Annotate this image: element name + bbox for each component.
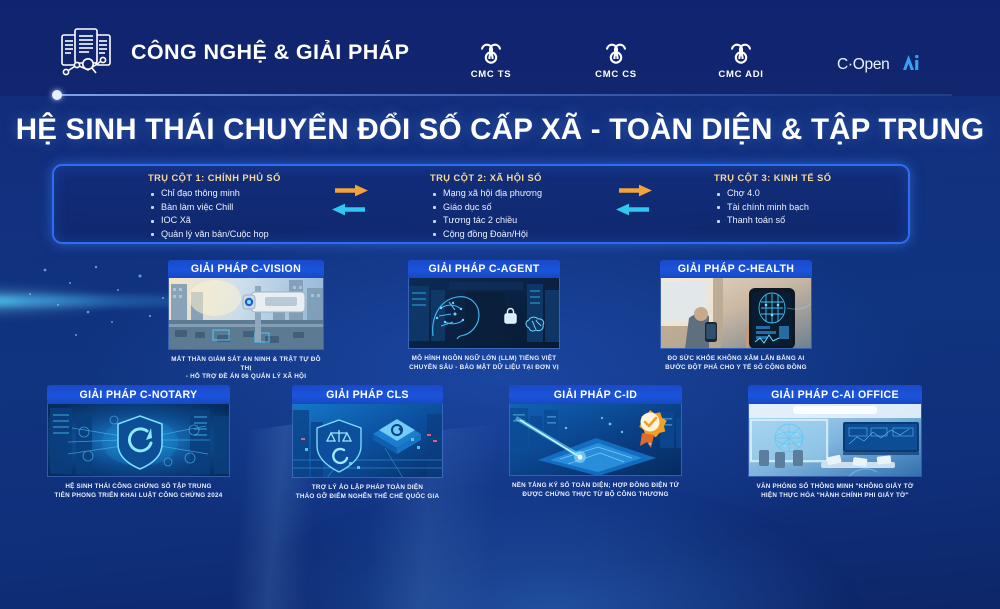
solution-card-c-health[interactable]: GIẢI PHÁP C-HEALTH	[660, 260, 812, 372]
pillar-item-list: Chỉ đạo thông minh Bàn làm việc Chill IO…	[148, 187, 326, 241]
partner-logos: CMC TS CMC CS CMC ADI	[452, 40, 929, 80]
card-caption-line-2: THÁO GỠ ĐIỂM NGHẼN THỂ CHẾ QUỐC GIA	[292, 493, 443, 502]
logo-label: CMC ADI	[702, 69, 780, 80]
solution-card-c-agent[interactable]: GIẢI PHÁP C-AGENT	[408, 260, 560, 372]
card-caption-line-1: ĐO SỨC KHỎE KHÔNG XÂM LẤN BẰNG AI	[660, 355, 812, 364]
c-open-ai-logo-icon: C·Open	[837, 53, 929, 80]
pillar-item: IOC Xã	[148, 214, 326, 228]
card-caption-line-2: - HỖ TRỢ ĐỀ ÁN 06 QUẢN LÝ XÃ HỘI	[168, 373, 324, 382]
smart-office-image	[749, 404, 922, 477]
card-title: GIẢI PHÁP C-AI OFFICE	[748, 385, 922, 404]
digital-shield-image	[48, 404, 230, 477]
solution-card-c-ai-office[interactable]: GIẢI PHÁP C-AI OFFICE	[748, 385, 922, 500]
card-caption: ĐO SỨC KHỎE KHÔNG XÂM LẤN BẰNG AI BƯỚC Đ…	[660, 355, 812, 372]
pillar-item: Cộng đồng Đoàn/Hội	[430, 228, 610, 242]
card-image-c-notary	[47, 404, 230, 477]
documents-analytics-icon	[58, 27, 114, 77]
pillar-item-list: Chợ 4.0 Tài chính minh bạch Thanh toán s…	[714, 187, 874, 228]
card-caption-line-2: CHUYÊN SÂU - BẢO MẬT DỮ LIỆU TẠI ĐƠN VỊ	[408, 364, 560, 373]
card-caption: MẮT THẦN GIÁM SÁT AN NINH & TRẬT TỰ ĐÔ T…	[168, 356, 324, 382]
ai-hologram-image	[409, 278, 560, 349]
card-image-c-health	[660, 278, 812, 349]
pillar-item: Quản lý văn bản/Cuộc họp	[148, 228, 326, 242]
card-caption: MÔ HÌNH NGÔN NGỮ LỚN (LLM) TIẾNG VIỆT CH…	[408, 355, 560, 372]
card-caption-line-1: VĂN PHÒNG SỐ THÔNG MINH "KHÔNG GIẤY TỜ	[748, 483, 922, 492]
pillar-1: TRỤ CỘT 1: CHÍNH PHỦ SỐ Chỉ đạo thông mi…	[148, 166, 326, 242]
page-title: HỆ SINH THÁI CHUYỂN ĐỔI SỐ CẤP XÃ - TOÀN…	[0, 113, 1000, 147]
pillar-3: TRỤ CỘT 3: KINH TẾ SỐ Chợ 4.0 Tài chính …	[714, 166, 874, 242]
card-caption: VĂN PHÒNG SỐ THÔNG MINH "KHÔNG GIẤY TỜ H…	[748, 483, 922, 500]
pillar-item: Tài chính minh bạch	[714, 201, 874, 215]
pillars-panel: TRỤ CỘT 1: CHÍNH PHỦ SỐ Chỉ đạo thông mi…	[52, 164, 910, 244]
logo-label: CMC TS	[452, 69, 530, 80]
page-header: CÔNG NGHỆ & GIẢI PHÁP CMC TS CMC CS	[0, 0, 1000, 100]
cmc-logo-icon	[452, 40, 530, 66]
pillar-item: Chợ 4.0	[714, 187, 874, 201]
card-image-c-id	[509, 404, 682, 476]
brand: CÔNG NGHỆ & GIẢI PHÁP	[58, 27, 409, 77]
card-caption-line-1: NỀN TẢNG KÝ SỐ TOÀN DIỆN; HỢP ĐỒNG ĐIỆN …	[509, 482, 682, 491]
card-image-cls	[292, 404, 443, 478]
pillar-item: Giáo dục số	[430, 201, 610, 215]
pillar-item-list: Mạng xã hội địa phương Giáo dục số Tương…	[430, 187, 610, 241]
pillar-item: Chỉ đạo thông minh	[148, 187, 326, 201]
pillar-item: Mạng xã hội địa phương	[430, 187, 610, 201]
arrow-left-icon	[331, 203, 365, 216]
logo-c-open-ai: C·Open	[837, 53, 929, 80]
card-caption: TRỢ LÝ ẢO LẬP PHÁP TOÀN DIỆN THÁO GỠ ĐIỂ…	[292, 484, 443, 501]
card-caption-line-2: HIỆN THỰC HÓA "HÀNH CHÍNH PHI GIẤY TỜ"	[748, 492, 922, 501]
legal-assistant-image	[293, 404, 443, 478]
solution-card-c-vision[interactable]: GIẢI PHÁP C-VISION	[168, 260, 324, 382]
card-caption-line-1: HỆ SINH THÁI CÔNG CHỨNG SỐ TẬP TRUNG	[47, 483, 230, 492]
svg-text:C·Open: C·Open	[837, 56, 889, 73]
card-caption-line-2: BƯỚC ĐỘT PHÁ CHO Y TẾ SỐ CỘNG ĐỒNG	[660, 364, 812, 373]
pillar-title: TRỤ CỘT 1: CHÍNH PHỦ SỐ	[148, 173, 326, 183]
arrow-right-icon	[335, 184, 369, 197]
card-image-c-ai-office	[748, 404, 922, 477]
card-caption-line-1: MÔ HÌNH NGÔN NGỮ LỚN (LLM) TIẾNG VIỆT	[408, 355, 560, 364]
card-title: GIẢI PHÁP C-VISION	[168, 260, 324, 278]
health-scan-image	[661, 278, 812, 349]
card-title: GIẢI PHÁP C-NOTARY	[47, 385, 230, 404]
card-caption: HỆ SINH THÁI CÔNG CHỨNG SỐ TẬP TRUNG TIÊ…	[47, 483, 230, 500]
arrow-right-icon	[619, 184, 653, 197]
card-title: GIẢI PHÁP C-AGENT	[408, 260, 560, 278]
pillar-title: TRỤ CỘT 2: XÃ HỘI SỐ	[430, 173, 610, 183]
card-image-c-vision	[168, 278, 324, 350]
header-divider-dot	[52, 90, 62, 100]
card-caption-line-1: MẮT THẦN GIÁM SÁT AN NINH & TRẬT TỰ ĐÔ T…	[168, 356, 324, 373]
solution-card-cls[interactable]: GIẢI PHÁP CLS	[292, 385, 443, 501]
pillar-item: Thanh toán số	[714, 214, 874, 228]
solution-card-c-id[interactable]: GIẢI PHÁP C-ID	[509, 385, 682, 499]
card-caption-line-1: TRỢ LÝ ẢO LẬP PHÁP TOÀN DIỆN	[292, 484, 443, 493]
cmc-logo-icon	[577, 40, 655, 66]
card-title: GIẢI PHÁP CLS	[292, 385, 443, 404]
solution-card-c-notary[interactable]: GIẢI PHÁP C-NOTARY	[47, 385, 230, 500]
header-divider	[52, 90, 952, 100]
logo-cmc-ts: CMC TS	[452, 40, 530, 80]
cmc-logo-icon	[702, 40, 780, 66]
pillar-connector-2	[610, 166, 658, 242]
header-divider-line	[60, 94, 952, 96]
city-surveillance-image	[169, 278, 324, 350]
logo-cmc-cs: CMC CS	[577, 40, 655, 80]
card-image-c-agent	[408, 278, 560, 349]
digital-signature-image	[510, 404, 682, 476]
brand-title: CÔNG NGHỆ & GIẢI PHÁP	[131, 40, 409, 65]
pillar-item: Bàn làm việc Chill	[148, 201, 326, 215]
pillar-2: TRỤ CỘT 2: XÃ HỘI SỐ Mạng xã hội địa phư…	[430, 166, 610, 242]
pillar-item: Tương tác 2 chiều	[430, 214, 610, 228]
logo-cmc-adi: CMC ADI	[702, 40, 780, 80]
arrow-left-icon	[615, 203, 649, 216]
card-title: GIẢI PHÁP C-ID	[509, 385, 682, 404]
card-caption-line-2: TIÊN PHONG TRIỂN KHAI LUẬT CÔNG CHỨNG 20…	[47, 492, 230, 501]
logo-label: CMC CS	[577, 69, 655, 80]
card-caption-line-2: ĐƯỢC CHỨNG THỰC TỪ BỘ CÔNG THƯƠNG	[509, 491, 682, 500]
card-title: GIẢI PHÁP C-HEALTH	[660, 260, 812, 278]
pillar-connector-1	[326, 166, 374, 242]
card-caption: NỀN TẢNG KÝ SỐ TOÀN DIỆN; HỢP ĐỒNG ĐIỆN …	[509, 482, 682, 499]
pillar-title: TRỤ CỘT 3: KINH TẾ SỐ	[714, 173, 874, 183]
